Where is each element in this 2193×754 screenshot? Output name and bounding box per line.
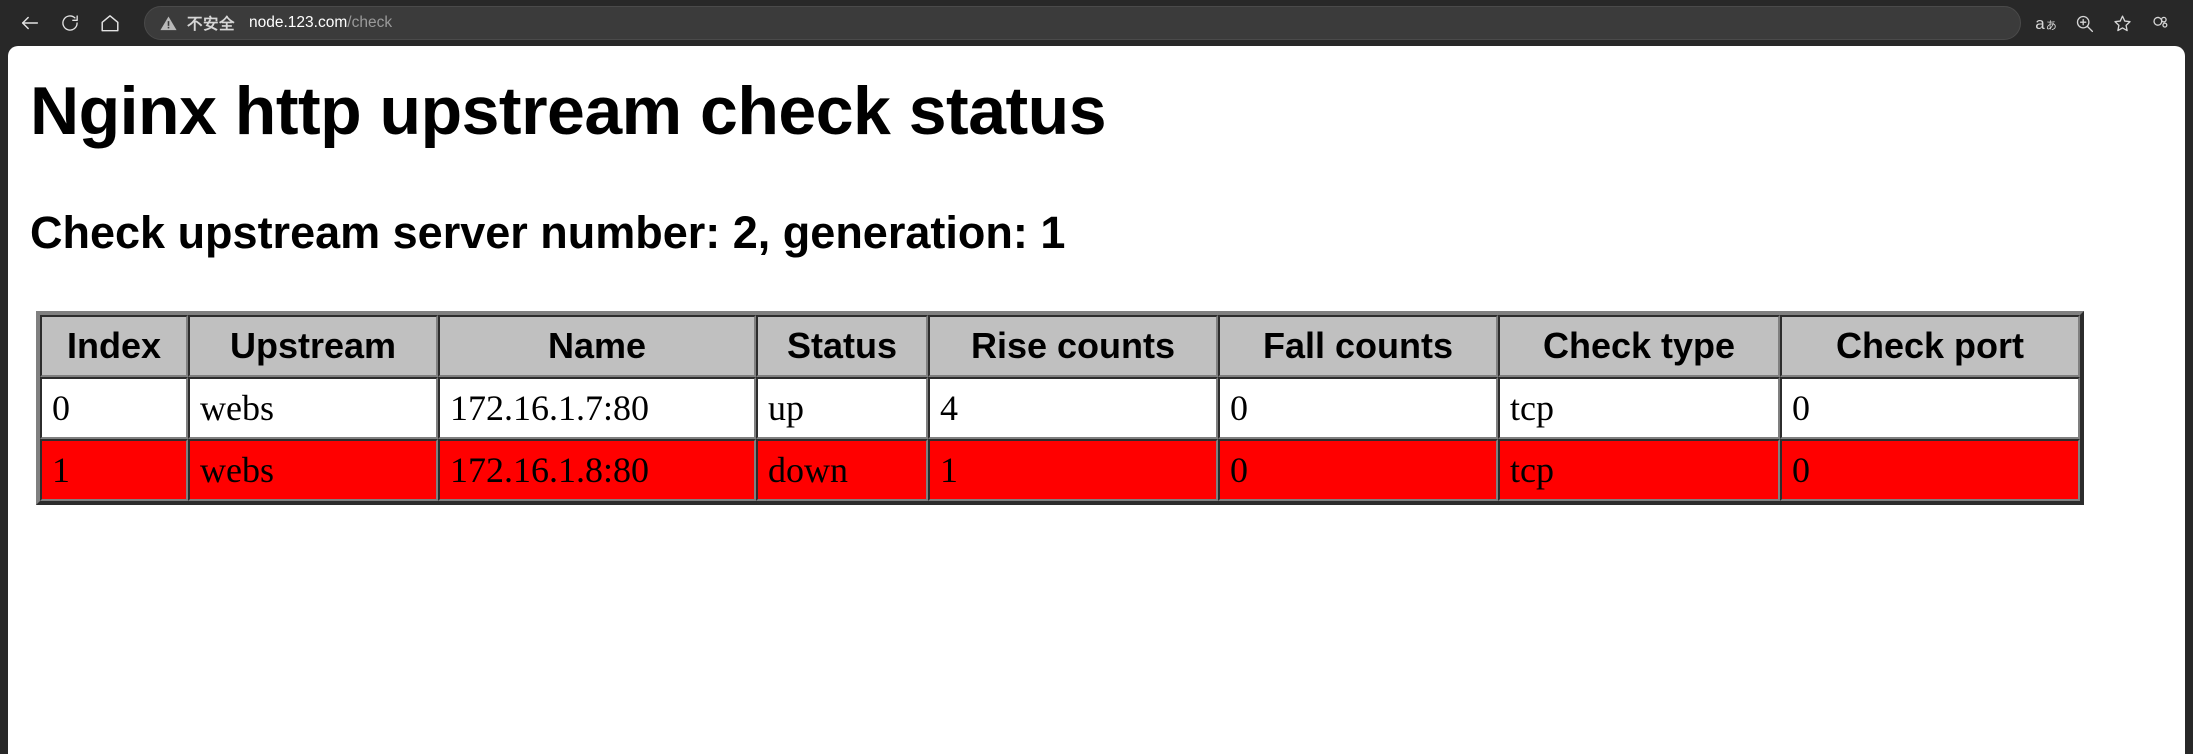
page-viewport: Nginx http upstream check status Check u…: [8, 46, 2185, 754]
cell-index: 1: [40, 439, 188, 501]
table-header-row: Index Upstream Name Status Rise counts F…: [40, 315, 2080, 377]
browser-window: 不安全 node.123.com/check aあ: [0, 0, 2193, 754]
column-header-check-type: Check type: [1498, 315, 1780, 377]
column-header-check-port: Check port: [1780, 315, 2080, 377]
url-host: node.123.com: [249, 14, 347, 31]
read-aloud-button[interactable]: aあ: [2027, 4, 2065, 42]
cell-fall-counts: 0: [1218, 439, 1498, 501]
column-header-rise-counts: Rise counts: [928, 315, 1218, 377]
warning-triangle-icon: [159, 14, 178, 33]
address-bar[interactable]: 不安全 node.123.com/check: [144, 6, 2021, 40]
cell-name: 172.16.1.8:80: [438, 439, 756, 501]
cell-check-port: 0: [1780, 439, 2080, 501]
cell-name: 172.16.1.7:80: [438, 377, 756, 439]
table-row: 1 webs 172.16.1.8:80 down 1 0 tcp 0: [40, 439, 2080, 501]
collections-icon: [2150, 13, 2171, 34]
table-row: 0 webs 172.16.1.7:80 up 4 0 tcp 0: [40, 377, 2080, 439]
home-button[interactable]: [90, 3, 130, 43]
security-status-label: 不安全: [187, 12, 235, 34]
toolbar-actions: aあ: [2027, 4, 2179, 42]
cell-index: 0: [40, 377, 188, 439]
zoom-button[interactable]: [2065, 4, 2103, 42]
browser-toolbar: 不安全 node.123.com/check aあ: [0, 0, 2193, 46]
nginx-check-status-page: Nginx http upstream check status Check u…: [8, 46, 2185, 505]
reload-icon: [60, 13, 80, 33]
star-favorite-icon: [2112, 13, 2133, 34]
cell-rise-counts: 1: [928, 439, 1218, 501]
reload-button[interactable]: [50, 3, 90, 43]
cell-upstream: webs: [188, 377, 438, 439]
home-icon: [99, 12, 121, 34]
cell-status: down: [756, 439, 928, 501]
column-header-upstream: Upstream: [188, 315, 438, 377]
cell-rise-counts: 4: [928, 377, 1218, 439]
cell-check-type: tcp: [1498, 377, 1780, 439]
page-title: Nginx http upstream check status: [30, 76, 2163, 147]
favorites-button[interactable]: [2103, 4, 2141, 42]
url-text: node.123.com/check: [249, 14, 392, 32]
cell-fall-counts: 0: [1218, 377, 1498, 439]
back-arrow-icon: [19, 12, 41, 34]
column-header-fall-counts: Fall counts: [1218, 315, 1498, 377]
zoom-search-icon: [2074, 13, 2095, 34]
cell-check-type: tcp: [1498, 439, 1780, 501]
read-aloud-icon: aあ: [2035, 15, 2056, 32]
collections-button[interactable]: [2141, 4, 2179, 42]
page-subtitle: Check upstream server number: 2, generat…: [30, 209, 2163, 256]
column-header-name: Name: [438, 315, 756, 377]
upstream-status-table: Index Upstream Name Status Rise counts F…: [36, 311, 2084, 505]
cell-status: up: [756, 377, 928, 439]
column-header-status: Status: [756, 315, 928, 377]
back-button[interactable]: [10, 3, 50, 43]
cell-upstream: webs: [188, 439, 438, 501]
cell-check-port: 0: [1780, 377, 2080, 439]
column-header-index: Index: [40, 315, 188, 377]
url-path: /check: [347, 14, 392, 31]
